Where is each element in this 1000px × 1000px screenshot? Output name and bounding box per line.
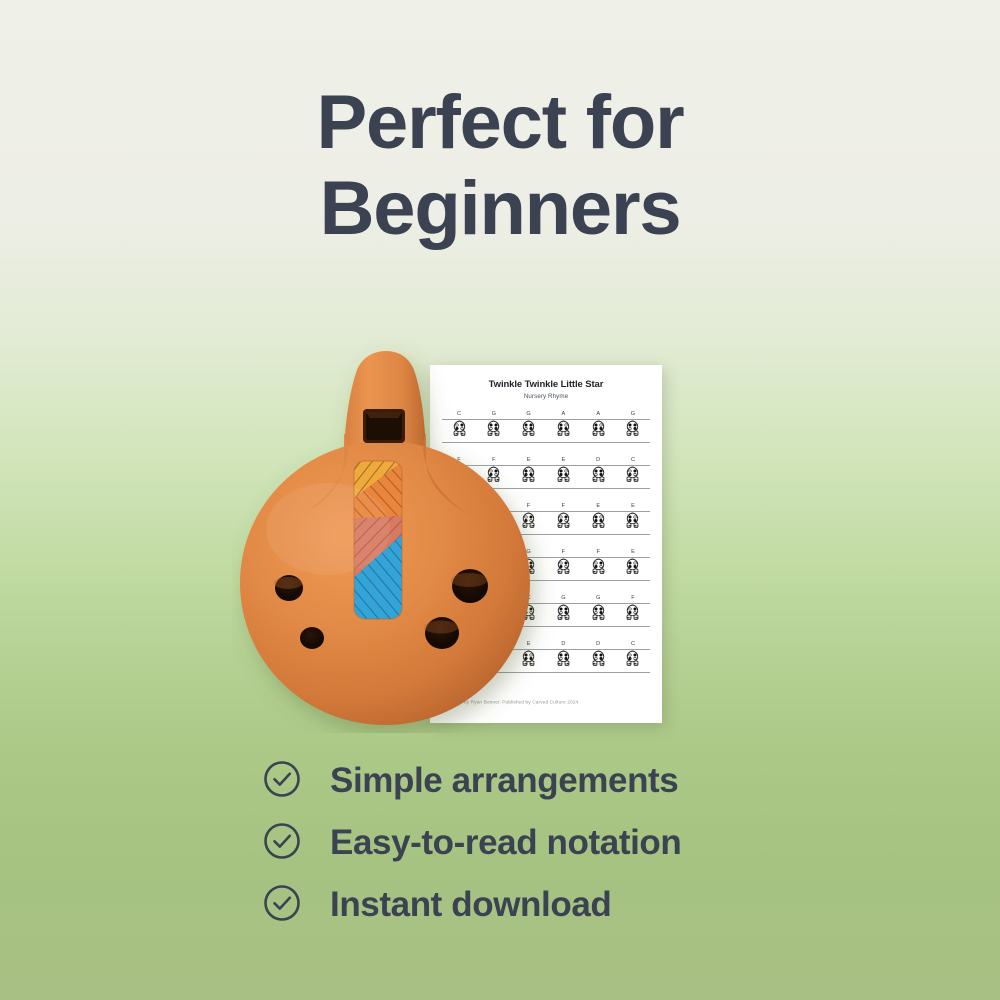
fingering-diagram xyxy=(625,512,640,529)
check-circle-icon xyxy=(262,883,302,928)
note-cell: E xyxy=(619,503,647,529)
fingering-diagram xyxy=(625,650,640,667)
fingering-diagram xyxy=(625,604,640,621)
headline-line-2: Beginners xyxy=(0,166,1000,252)
fingering-diagram xyxy=(625,420,640,437)
fingering-diagram xyxy=(591,558,606,575)
note-cell: F xyxy=(619,595,647,621)
note-cell: D xyxy=(584,641,612,667)
feature-item: Instant download xyxy=(262,874,822,936)
fingering-diagram xyxy=(625,558,640,575)
fingering-diagram xyxy=(591,604,606,621)
note-letter: D xyxy=(584,457,612,464)
note-letter: F xyxy=(619,595,647,602)
feature-item: Easy-to-read notation xyxy=(262,812,822,874)
note-cell: D xyxy=(584,457,612,483)
note-letter: G xyxy=(584,595,612,602)
note-cell: F xyxy=(584,549,612,575)
note-cell: G xyxy=(619,411,647,437)
note-letter: D xyxy=(584,641,612,648)
ocarina-illustration xyxy=(232,333,562,733)
note-letter: C xyxy=(619,457,647,464)
fingering-diagram xyxy=(591,420,606,437)
note-cell: C xyxy=(619,457,647,483)
fingering-diagram xyxy=(625,466,640,483)
finger-hole-lower-left xyxy=(300,627,324,649)
note-cell: C xyxy=(619,641,647,667)
headline-line-1: Perfect for xyxy=(0,80,1000,166)
promo-graphic: Perfect for Beginners Twinkle Twinkle Li… xyxy=(0,0,1000,1000)
note-letter: F xyxy=(584,549,612,556)
note-letter: E xyxy=(619,549,647,556)
check-circle-icon xyxy=(262,759,302,804)
feature-list: Simple arrangements Easy-to-read notatio… xyxy=(262,750,822,936)
note-cell: G xyxy=(584,595,612,621)
windway-opening xyxy=(363,409,405,443)
note-letter: E xyxy=(619,503,647,510)
note-letter: G xyxy=(619,411,647,418)
note-cell: E xyxy=(584,503,612,529)
feature-label: Simple arrangements xyxy=(330,761,678,801)
fingering-diagram xyxy=(591,650,606,667)
note-letter: E xyxy=(584,503,612,510)
feature-label: Instant download xyxy=(330,885,611,925)
note-letter: A xyxy=(584,411,612,418)
page-title: Perfect for Beginners xyxy=(0,80,1000,252)
fingering-diagram xyxy=(591,512,606,529)
check-circle-icon xyxy=(262,821,302,866)
fingering-diagram xyxy=(591,466,606,483)
feature-item: Simple arrangements xyxy=(262,750,822,812)
feature-label: Easy-to-read notation xyxy=(330,823,681,863)
note-cell: A xyxy=(584,411,612,437)
note-letter: C xyxy=(619,641,647,648)
note-cell: E xyxy=(619,549,647,575)
